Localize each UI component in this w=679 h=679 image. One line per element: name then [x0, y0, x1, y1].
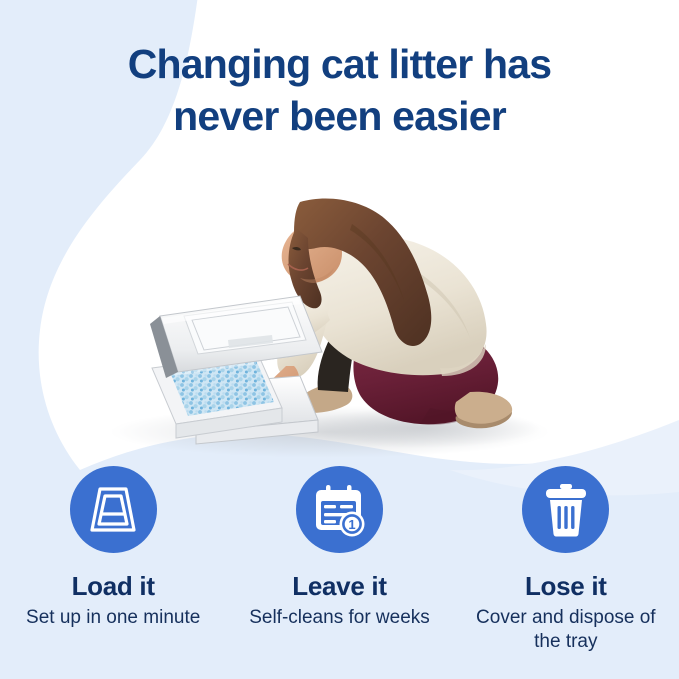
feature-title: Load it [72, 571, 155, 601]
headline: Changing cat litter has never been easie… [0, 38, 679, 142]
feature-list: Load it Set up in one minute 1 [0, 466, 679, 679]
trash-can-icon [540, 482, 592, 538]
feature-lose-it[interactable]: Lose it Cover and dispose of the tray [453, 466, 679, 679]
feature-icon-circle [522, 466, 609, 553]
feature-subtitle: Set up in one minute [26, 606, 200, 630]
feature-subtitle: Cover and dispose of the tray [471, 606, 661, 654]
feature-title: Lose it [525, 571, 607, 601]
feature-load-it[interactable]: Load it Set up in one minute [0, 466, 226, 679]
calendar-badge-number: 1 [349, 517, 356, 532]
feature-icon-circle: 1 [296, 466, 383, 553]
feature-title: Leave it [292, 571, 386, 601]
feature-icon-circle [70, 466, 157, 553]
feature-leave-it[interactable]: 1 Leave it Self-cleans for weeks [226, 466, 452, 679]
product-photo [0, 140, 679, 460]
headline-line-1: Changing cat litter has [0, 38, 679, 90]
litter-tray-icon [85, 483, 141, 537]
calendar-icon: 1 [310, 482, 368, 538]
promo-image: Changing cat litter has never been easie… [0, 0, 679, 679]
headline-line-2: never been easier [0, 90, 679, 142]
feature-subtitle: Self-cleans for weeks [249, 606, 430, 630]
